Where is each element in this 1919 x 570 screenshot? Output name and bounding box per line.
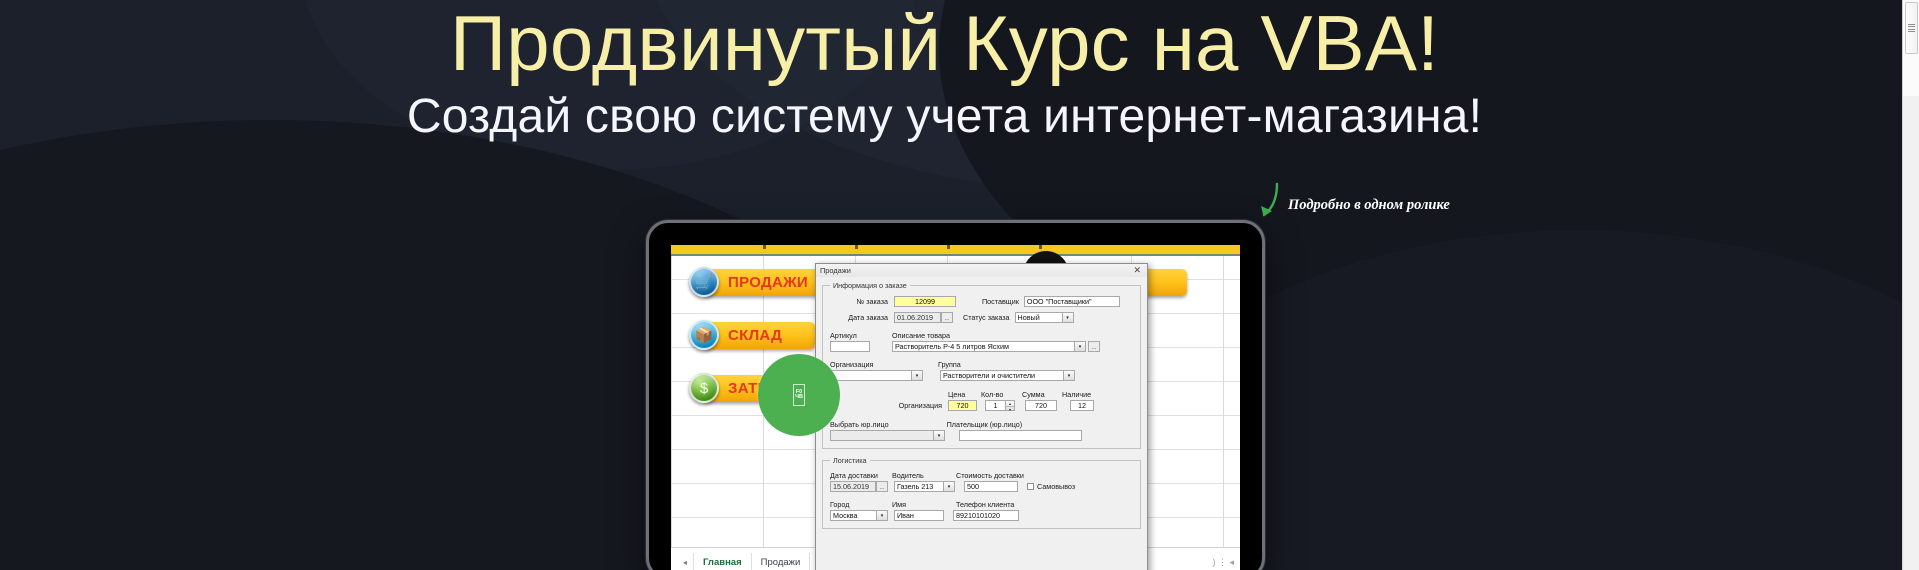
chevron-down-icon[interactable]: ▾: [1064, 370, 1075, 381]
input-delivery-cost[interactable]: 500: [964, 481, 1018, 492]
label-order-date: Дата заказа: [830, 313, 888, 322]
label-delivery-date: Дата доставки: [830, 471, 892, 480]
input-name[interactable]: Иван: [894, 510, 944, 521]
input-order-number[interactable]: 12099: [894, 296, 956, 307]
hero-section: Продвинутый Курс на VBA! Создай свою сис…: [0, 0, 1889, 142]
input-stock: 12: [1070, 400, 1094, 411]
input-supplier[interactable]: ООО "Поставщики": [1024, 296, 1120, 307]
quantity-stepper[interactable]: ▴▾: [1006, 400, 1015, 411]
launcher-button-sklad[interactable]: 📦 СКЛАД: [687, 320, 815, 350]
label-product-description: Описание товара: [892, 331, 950, 340]
label-city: Город: [830, 500, 892, 509]
tabbar-right-marks: ) ⋮ ◂: [1212, 557, 1240, 568]
label-price: Цена: [948, 390, 981, 399]
excel-header-band: [671, 245, 1240, 256]
launcher-label: СКЛАД: [703, 322, 815, 349]
play-overlay-frame: F0 ЧВ: [793, 384, 805, 406]
launcher-label: ПРОДАЖИ: [703, 269, 823, 296]
label-driver: Водитель: [892, 471, 956, 480]
tablet-device-mockup: 🛒 ПРОДАЖИ ✉ SMS 🔔 ылка 📦 СКЛАД: [646, 220, 1265, 570]
chevron-down-icon[interactable]: ▾: [944, 481, 955, 492]
vba-userform-prodazhi: Продажи ✕ Информация о заказе № заказа 1…: [815, 263, 1148, 570]
input-order-date[interactable]: 01.06.2019: [894, 312, 941, 323]
play-button-circle-icon[interactable]: F0 ЧВ: [758, 354, 840, 436]
video-hint-text: Подробно в одном ролике: [1288, 197, 1450, 214]
label-organization: Организация: [830, 360, 870, 369]
product-browse-button[interactable]: ...: [1088, 341, 1100, 352]
chevron-down-icon[interactable]: ▾: [912, 370, 923, 381]
label-payer: Плательщик (юр.лицо): [947, 420, 1023, 429]
label-name: Имя: [892, 500, 956, 509]
label-delivery-cost: Стоимость доставки: [956, 471, 1024, 480]
box-icon: 📦: [689, 320, 719, 350]
curved-arrow-down-left-icon: [1258, 182, 1280, 220]
sheet-tab-glavnaya[interactable]: Главная: [693, 553, 751, 570]
chevron-down-icon[interactable]: ▾: [1063, 312, 1074, 323]
input-quantity[interactable]: 1: [985, 400, 1006, 411]
page-subtitle: Создай свою систему учета интернет-магаз…: [0, 92, 1889, 142]
label-organization-echo: Организация: [830, 401, 948, 410]
input-article[interactable]: [830, 341, 870, 352]
form-title-text: Продажи: [820, 266, 1131, 275]
tab-prev-arrow-icon[interactable]: ◂: [677, 558, 693, 567]
label-sum: Сумма: [1022, 390, 1062, 399]
select-driver[interactable]: Газель 213: [894, 481, 944, 492]
form-group-legend: Информация о заказе: [830, 281, 910, 290]
label-quantity: Кол-во: [981, 390, 1022, 399]
shopping-cart-icon: 🛒: [689, 267, 719, 297]
form-titlebar: Продажи ✕: [816, 264, 1147, 277]
label-choose-legal-entity: Выбрать юр.лицо: [830, 420, 889, 429]
form-group-order-info: Информация о заказе № заказа 12099 Поста…: [822, 281, 1141, 449]
launcher-button-prodazhi[interactable]: 🛒 ПРОДАЖИ: [687, 267, 823, 297]
select-group[interactable]: Растворители и очистители: [940, 370, 1064, 381]
money-icon: $: [689, 373, 719, 403]
label-self-pickup: Самовывоз: [1037, 482, 1075, 491]
chevron-down-icon[interactable]: ▾: [934, 430, 945, 441]
select-city[interactable]: Москва: [830, 510, 877, 521]
vertical-scrollbar-thumb-icon[interactable]: [1905, 2, 1918, 54]
page-scrollbar[interactable]: [1902, 0, 1919, 570]
label-client-phone: Телефон клиента: [956, 500, 1014, 509]
input-payer[interactable]: [959, 430, 1082, 441]
form-group-logistics: Логистика Дата доставки Водитель Стоимос…: [822, 456, 1141, 529]
label-stock: Наличие: [1062, 390, 1091, 399]
select-order-status[interactable]: Новый: [1015, 312, 1063, 323]
label-supplier: Поставщик: [982, 297, 1019, 306]
select-legal-entity[interactable]: [830, 430, 934, 441]
play-overlay-line2: ЧВ: [795, 395, 803, 401]
select-organization[interactable]: [830, 370, 912, 381]
date-picker-button[interactable]: ...: [876, 481, 888, 492]
label-group: Группа: [938, 360, 961, 369]
input-client-phone[interactable]: 89210101020: [953, 510, 1019, 521]
checkbox-self-pickup[interactable]: [1027, 483, 1034, 490]
date-picker-button[interactable]: ...: [941, 312, 953, 323]
video-hint-note: Подробно в одном ролике: [1258, 186, 1450, 220]
sheet-tab-prodazhi[interactable]: Продажи: [751, 553, 810, 570]
page-title: Продвинутый Курс на VBA!: [0, 0, 1889, 84]
select-product-description[interactable]: Растворитель Р-4 5 литров Ясхим: [892, 341, 1075, 352]
input-price[interactable]: 720: [948, 400, 977, 411]
label-order-number: № заказа: [830, 297, 888, 306]
chevron-down-icon[interactable]: ▾: [1075, 341, 1086, 352]
input-sum: 720: [1025, 400, 1057, 411]
tablet-screen: 🛒 ПРОДАЖИ ✉ SMS 🔔 ылка 📦 СКЛАД: [671, 245, 1240, 570]
scrollbar-grip-icon: [1908, 22, 1915, 34]
form-group-legend: Логистика: [830, 456, 870, 465]
label-article: Артикул: [830, 331, 870, 340]
label-order-status: Статус заказа: [963, 313, 1010, 322]
close-icon[interactable]: ✕: [1131, 265, 1143, 276]
input-delivery-date[interactable]: 15.06.2019: [830, 481, 876, 492]
chevron-down-icon[interactable]: ▾: [877, 510, 888, 521]
